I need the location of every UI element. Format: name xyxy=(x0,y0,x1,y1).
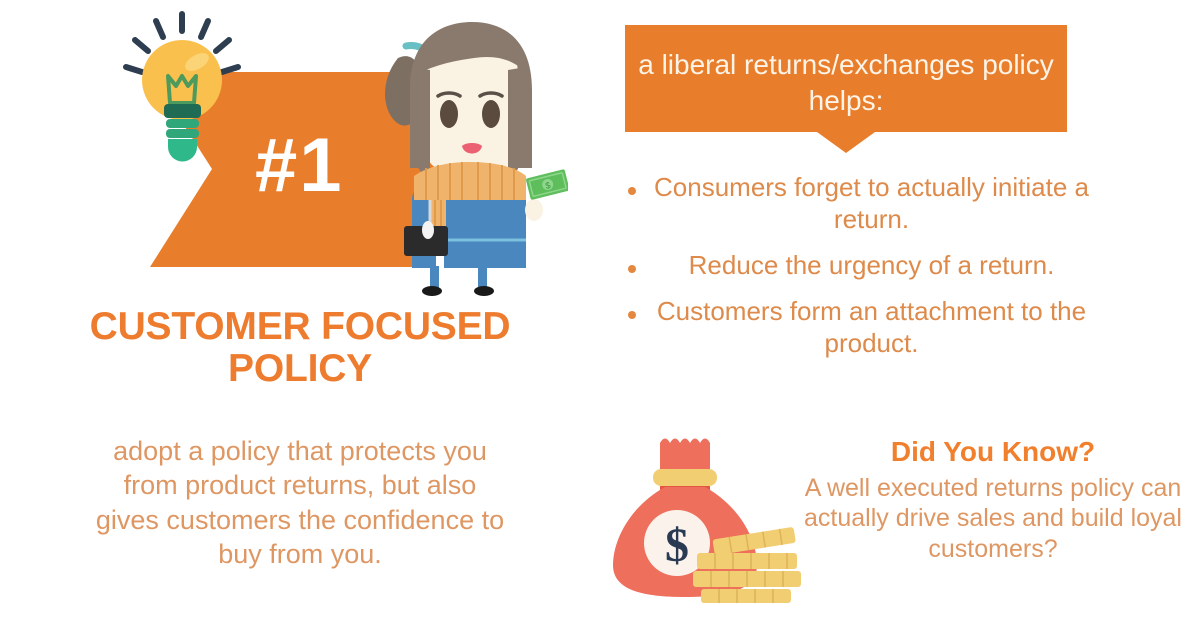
badge-number: #1 xyxy=(255,128,344,204)
bullet-dot-icon xyxy=(628,265,636,273)
woman-with-money-illustration: $ xyxy=(368,18,568,298)
benefits-list: Consumers forget to actually initiate a … xyxy=(628,172,1093,374)
infographic-canvas: #1 xyxy=(0,0,1200,642)
money-bag-icon: $ xyxy=(605,415,820,605)
list-item-label: Reduce the urgency of a return. xyxy=(650,250,1093,282)
right-column: a liberal returns/exchanges policy helps… xyxy=(600,0,1200,642)
left-column: #1 xyxy=(0,0,600,642)
list-item-label: Consumers forget to actually initiate a … xyxy=(650,172,1093,236)
callout-title: a liberal returns/exchanges policy helps… xyxy=(625,47,1067,119)
bullet-dot-icon xyxy=(628,187,636,195)
bullet-dot-icon xyxy=(628,311,636,319)
callout-banner: a liberal returns/exchanges policy helps… xyxy=(625,25,1067,153)
list-item-label: Customers form an attachment to the prod… xyxy=(650,296,1093,360)
left-paragraph: adopt a policy that protects you from pr… xyxy=(90,434,510,571)
did-you-know-body: A well executed returns policy can actua… xyxy=(798,473,1188,565)
page-title: CUSTOMER FOCUSED POLICY xyxy=(30,306,570,390)
dollar-bill-icon: $ xyxy=(526,169,568,200)
lightbulb-icon xyxy=(118,8,253,173)
did-you-know-block: Did You Know? A well executed returns po… xyxy=(798,435,1188,565)
list-item: Reduce the urgency of a return. xyxy=(628,250,1093,282)
did-you-know-title: Did You Know? xyxy=(798,435,1188,469)
dollar-sign-icon: $ xyxy=(665,519,689,572)
list-item: Customers form an attachment to the prod… xyxy=(628,296,1093,360)
list-item: Consumers forget to actually initiate a … xyxy=(628,172,1093,236)
ribbon-illustration-area: #1 xyxy=(0,0,600,300)
